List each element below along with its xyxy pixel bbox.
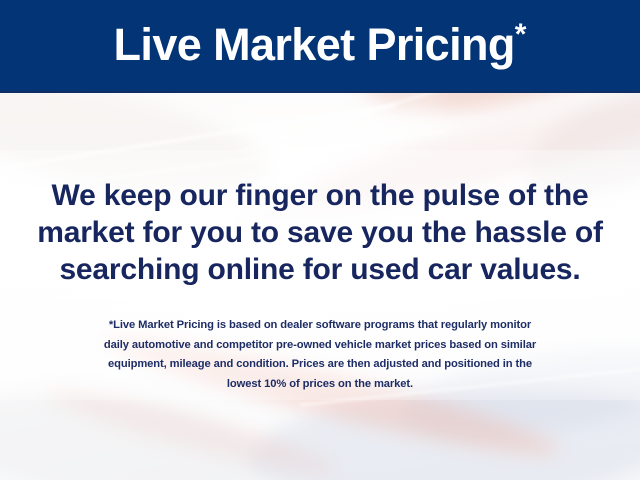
headline-line-2: market for you to save you the hassle of [18,214,622,251]
headline: We keep our finger on the pulse of the m… [18,177,622,288]
page-title-text: Live Market Pricing [114,19,515,70]
disclaimer-line-4: lowest 10% of prices on the market. [24,375,616,395]
live-market-pricing-banner: Live Market Pricing* We keep our finger … [0,0,640,480]
disclaimer-text: *Live Market Pricing is based on dealer … [24,316,616,394]
page-title: Live Market Pricing* [114,20,527,71]
headline-line-1: We keep our finger on the pulse of the [18,177,622,214]
disclaimer-line-3: equipment, mileage and condition. Prices… [24,355,616,375]
headline-line-3: searching online for used car values. [18,251,622,288]
disclaimer-line-2: daily automotive and competitor pre-owne… [24,336,616,356]
page-title-asterisk: * [515,18,527,51]
disclaimer-line-1: *Live Market Pricing is based on dealer … [24,316,616,336]
header-bar: Live Market Pricing* [0,0,640,93]
